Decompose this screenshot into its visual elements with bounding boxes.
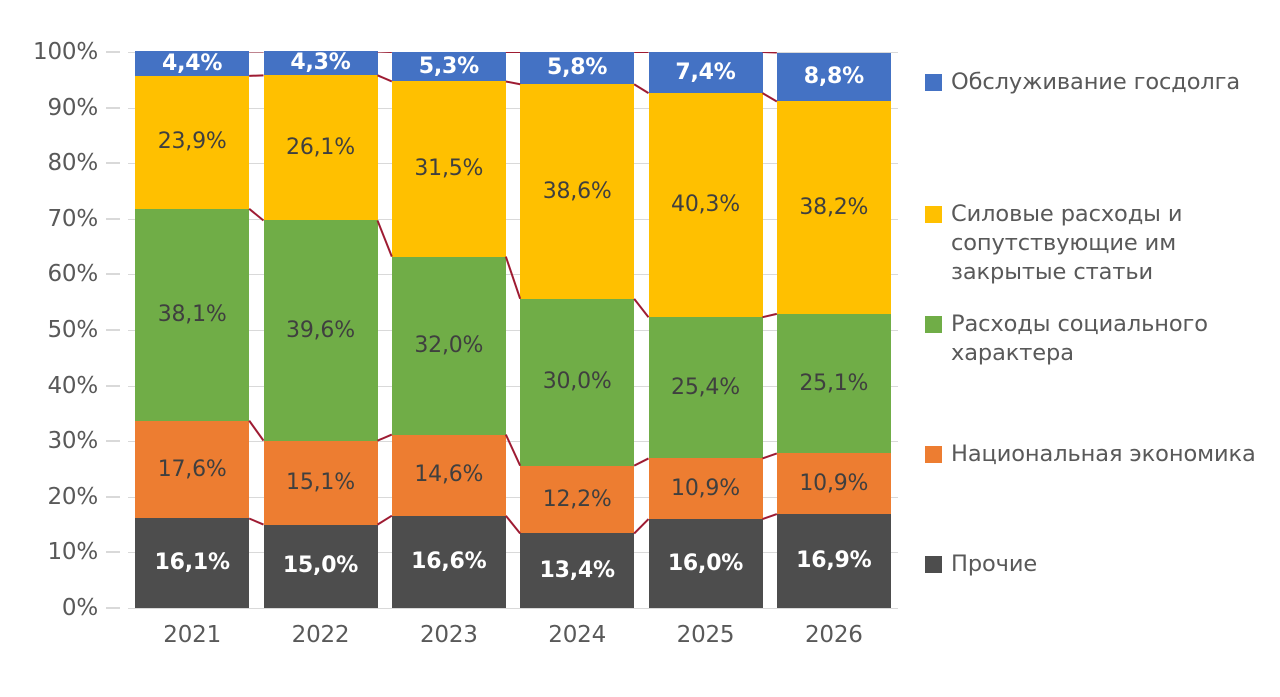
bar-segment[interactable]: 31,5% [392, 81, 506, 256]
bar-segment-value-label: 26,1% [286, 137, 355, 159]
bar-segment-value-label: 16,0% [668, 553, 743, 575]
legend-item-label: Национальная экономика [951, 440, 1256, 469]
bar-segment[interactable]: 40,3% [649, 93, 763, 317]
bar-stack[interactable]: 16,9%10,9%25,1%38,2%8,8% [777, 52, 891, 608]
legend-item[interactable]: Силовые расходы и сопутствующие им закры… [925, 200, 1270, 286]
x-axis-tick-label: 2024 [548, 622, 606, 648]
bar-segment[interactable]: 32,0% [392, 257, 506, 435]
bar-segment[interactable]: 16,9% [777, 514, 891, 608]
legend-item-label: Обслуживание госдолга [951, 68, 1240, 97]
y-axis-tick-label: 80% [47, 150, 98, 176]
bar-stack[interactable]: 13,4%12,2%30,0%38,6%5,8% [520, 52, 634, 608]
x-axis: 202120222023202420252026 [128, 608, 898, 658]
bar-segment[interactable]: 16,6% [392, 516, 506, 608]
bar-segment-value-label: 12,2% [543, 489, 612, 511]
bar-segment-value-label: 16,9% [796, 550, 871, 572]
bar-stack[interactable]: 16,1%17,6%38,1%23,9%4,4% [135, 52, 249, 608]
bar-stack[interactable]: 16,6%14,6%32,0%31,5%5,3% [392, 52, 506, 608]
bar-segment[interactable]: 16,0% [649, 519, 763, 608]
y-axis-tick-mark [106, 385, 120, 387]
bar-stack[interactable]: 16,0%10,9%25,4%40,3%7,4% [649, 52, 763, 608]
bar-segment[interactable]: 14,6% [392, 435, 506, 516]
legend-item-label: Прочие [951, 550, 1037, 579]
bar-segment-value-label: 39,6% [286, 320, 355, 342]
y-axis-tick-mark [106, 607, 120, 609]
stacked-bar-chart: 0%10%20%30%40%50%60%70%80%90%100% 16,1%1… [0, 0, 1280, 697]
y-axis-tick-mark [106, 107, 120, 109]
bar-segment[interactable]: 12,2% [520, 466, 634, 534]
bar-group: 16,1%17,6%38,1%23,9%4,4%15,0%15,1%39,6%2… [128, 52, 898, 608]
y-axis-tick-mark [106, 496, 120, 498]
x-axis-tick-label: 2026 [805, 622, 863, 648]
bar-segment-value-label: 38,2% [799, 197, 868, 219]
legend-swatch-green-icon [925, 316, 942, 333]
bar-segment-value-label: 38,1% [158, 304, 227, 326]
y-axis-tick-label: 100% [33, 39, 98, 65]
bar-segment-value-label: 32,0% [414, 335, 483, 357]
bar-segment-value-label: 4,3% [290, 52, 350, 74]
bar-segment-value-label: 25,4% [671, 377, 740, 399]
bar-segment[interactable]: 25,4% [649, 317, 763, 458]
bar-segment[interactable]: 5,8% [520, 52, 634, 84]
bar-segment-value-label: 15,1% [286, 472, 355, 494]
bar-segment-value-label: 14,6% [414, 464, 483, 486]
y-axis-tick-mark [106, 551, 120, 553]
y-axis-tick-label: 90% [47, 95, 98, 121]
x-axis-tick-label: 2022 [292, 622, 350, 648]
legend-item-label: Силовые расходы и сопутствующие им закры… [951, 200, 1270, 286]
bar-segment[interactable]: 26,1% [264, 75, 378, 220]
bar-segment[interactable]: 13,4% [520, 533, 634, 608]
bar-segment[interactable]: 17,6% [135, 421, 249, 519]
bar-segment-value-label: 16,6% [411, 551, 486, 573]
y-axis-tick-mark [106, 162, 120, 164]
y-axis-tick-mark [106, 440, 120, 442]
bar-segment-value-label: 16,1% [154, 552, 229, 574]
y-axis-tick-mark [106, 218, 120, 220]
bar-segment-value-label: 10,9% [671, 478, 740, 500]
plot-area: 16,1%17,6%38,1%23,9%4,4%15,0%15,1%39,6%2… [128, 52, 898, 608]
bar-segment-value-label: 38,6% [543, 181, 612, 203]
y-axis-tick-label: 60% [47, 261, 98, 287]
y-axis-tick-mark [106, 51, 120, 53]
y-axis-tick-label: 50% [47, 317, 98, 343]
bar-segment[interactable]: 7,4% [649, 52, 763, 93]
x-axis-tick-label: 2025 [677, 622, 735, 648]
bar-segment[interactable]: 15,0% [264, 525, 378, 608]
legend-swatch-orange-icon [925, 446, 942, 463]
y-axis-tick-label: 70% [47, 206, 98, 232]
bar-segment-value-label: 4,4% [162, 53, 222, 75]
x-axis-tick-label: 2021 [163, 622, 221, 648]
bar-segment[interactable]: 38,2% [777, 101, 891, 313]
bar-segment[interactable]: 10,9% [777, 453, 891, 514]
legend-item[interactable]: Расходы социального характера [925, 310, 1270, 368]
y-axis-tick-label: 30% [47, 428, 98, 454]
bar-segment-value-label: 17,6% [158, 459, 227, 481]
bar-segment-value-label: 5,8% [547, 57, 607, 79]
y-axis: 0%10%20%30%40%50%60%70%80%90%100% [0, 52, 128, 608]
bar-segment-value-label: 40,3% [671, 194, 740, 216]
legend-swatch-blue-icon [925, 74, 942, 91]
y-axis-tick-label: 0% [62, 595, 98, 621]
legend-swatch-yellow-icon [925, 206, 942, 223]
legend-item[interactable]: Прочие [925, 550, 1037, 579]
bar-segment[interactable]: 23,9% [135, 76, 249, 209]
bar-segment[interactable]: 5,3% [392, 52, 506, 81]
bar-segment[interactable]: 25,1% [777, 314, 891, 454]
bar-segment[interactable]: 38,1% [135, 209, 249, 421]
y-axis-tick-mark [106, 273, 120, 275]
legend-item-label: Расходы социального характера [951, 310, 1270, 368]
bar-segment-value-label: 23,9% [158, 131, 227, 153]
y-axis-tick-label: 10% [47, 539, 98, 565]
bar-segment[interactable]: 30,0% [520, 299, 634, 466]
bar-segment-value-label: 30,0% [543, 371, 612, 393]
y-axis-tick-mark [106, 329, 120, 331]
bar-segment-value-label: 13,4% [539, 560, 614, 582]
y-axis-tick-label: 40% [47, 373, 98, 399]
legend-item[interactable]: Национальная экономика [925, 440, 1256, 469]
legend-item[interactable]: Обслуживание госдолга [925, 68, 1240, 97]
x-axis-tick-label: 2023 [420, 622, 478, 648]
bar-segment-value-label: 5,3% [419, 56, 479, 78]
bar-segment[interactable]: 15,1% [264, 441, 378, 525]
y-axis-tick-label: 20% [47, 484, 98, 510]
bar-stack[interactable]: 15,0%15,1%39,6%26,1%4,3% [264, 52, 378, 608]
bar-segment-value-label: 10,9% [799, 473, 868, 495]
bar-segment-value-label: 8,8% [804, 66, 864, 88]
bar-segment[interactable]: 4,3% [264, 51, 378, 75]
bar-segment[interactable]: 38,6% [520, 84, 634, 299]
bar-segment-value-label: 15,0% [283, 555, 358, 577]
bar-segment[interactable]: 4,4% [135, 51, 249, 75]
bar-segment[interactable]: 16,1% [135, 518, 249, 608]
bar-segment-value-label: 25,1% [799, 373, 868, 395]
bar-segment[interactable]: 8,8% [777, 53, 891, 102]
bar-segment[interactable]: 39,6% [264, 220, 378, 440]
bar-segment[interactable]: 10,9% [649, 458, 763, 519]
legend-swatch-gray-icon [925, 556, 942, 573]
bar-segment-value-label: 31,5% [414, 158, 483, 180]
bar-segment-value-label: 7,4% [675, 62, 735, 84]
